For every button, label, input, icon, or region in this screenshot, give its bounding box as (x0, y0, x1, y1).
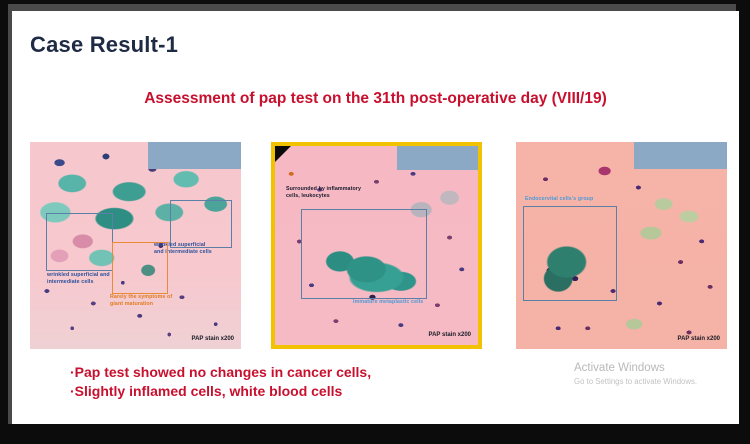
annotation-box-3a (523, 206, 617, 301)
stain-label-3: PAP stain x200 (678, 336, 720, 342)
micrograph-panel-3[interactable]: Endocervital cells's group PAP stain x20… (516, 142, 727, 349)
watermark-subtitle: Go to Settings to activate Windows. (574, 377, 697, 388)
image-overlay-strip-2 (397, 146, 478, 170)
annotation-label-2a: Surrounded by inflammatory cells, leukoc… (286, 186, 396, 200)
annotation-box-1c (112, 242, 168, 294)
watermark-title: Activate Windows (574, 361, 697, 377)
video-frame-border: Case Result-1 Assessment of pap test on … (0, 0, 750, 444)
annotation-label-2b: Immature metaplastic cells (353, 299, 453, 306)
bullet-item-1: ·Pap test showed no changes in cancer ce… (70, 363, 371, 382)
micrograph-panel-1[interactable]: wrinkled superficial and intermediate ce… (30, 142, 241, 349)
image-overlay-strip-3 (634, 142, 727, 169)
annotation-box-2b (301, 209, 427, 299)
assessment-heading: Assessment of pap test on the 31th post-… (12, 90, 739, 108)
stain-label-1: PAP stain x200 (192, 336, 234, 342)
annotation-label-3a: Endocervital cells's group (525, 196, 630, 203)
annotation-box-1b (170, 200, 232, 248)
annotation-label-1c: Rarely the symptoms of giant maturation (110, 294, 194, 308)
corner-marker-icon (275, 146, 291, 162)
page-title: Case Result-1 (30, 32, 178, 58)
activate-windows-watermark: Activate Windows Go to Settings to activ… (574, 361, 697, 387)
stain-label-2: PAP stain x200 (429, 332, 471, 338)
image-overlay-strip-1 (148, 142, 241, 169)
micrograph-panel-2[interactable]: Surrounded by inflammatory cells, leukoc… (271, 142, 482, 349)
presentation-slide: Case Result-1 Assessment of pap test on … (12, 11, 739, 424)
summary-bullets: ·Pap test showed no changes in cancer ce… (70, 363, 371, 401)
bullet-item-2: ·Slightly inflamed cells, white blood ce… (70, 382, 371, 401)
annotation-box-1a (46, 213, 113, 271)
